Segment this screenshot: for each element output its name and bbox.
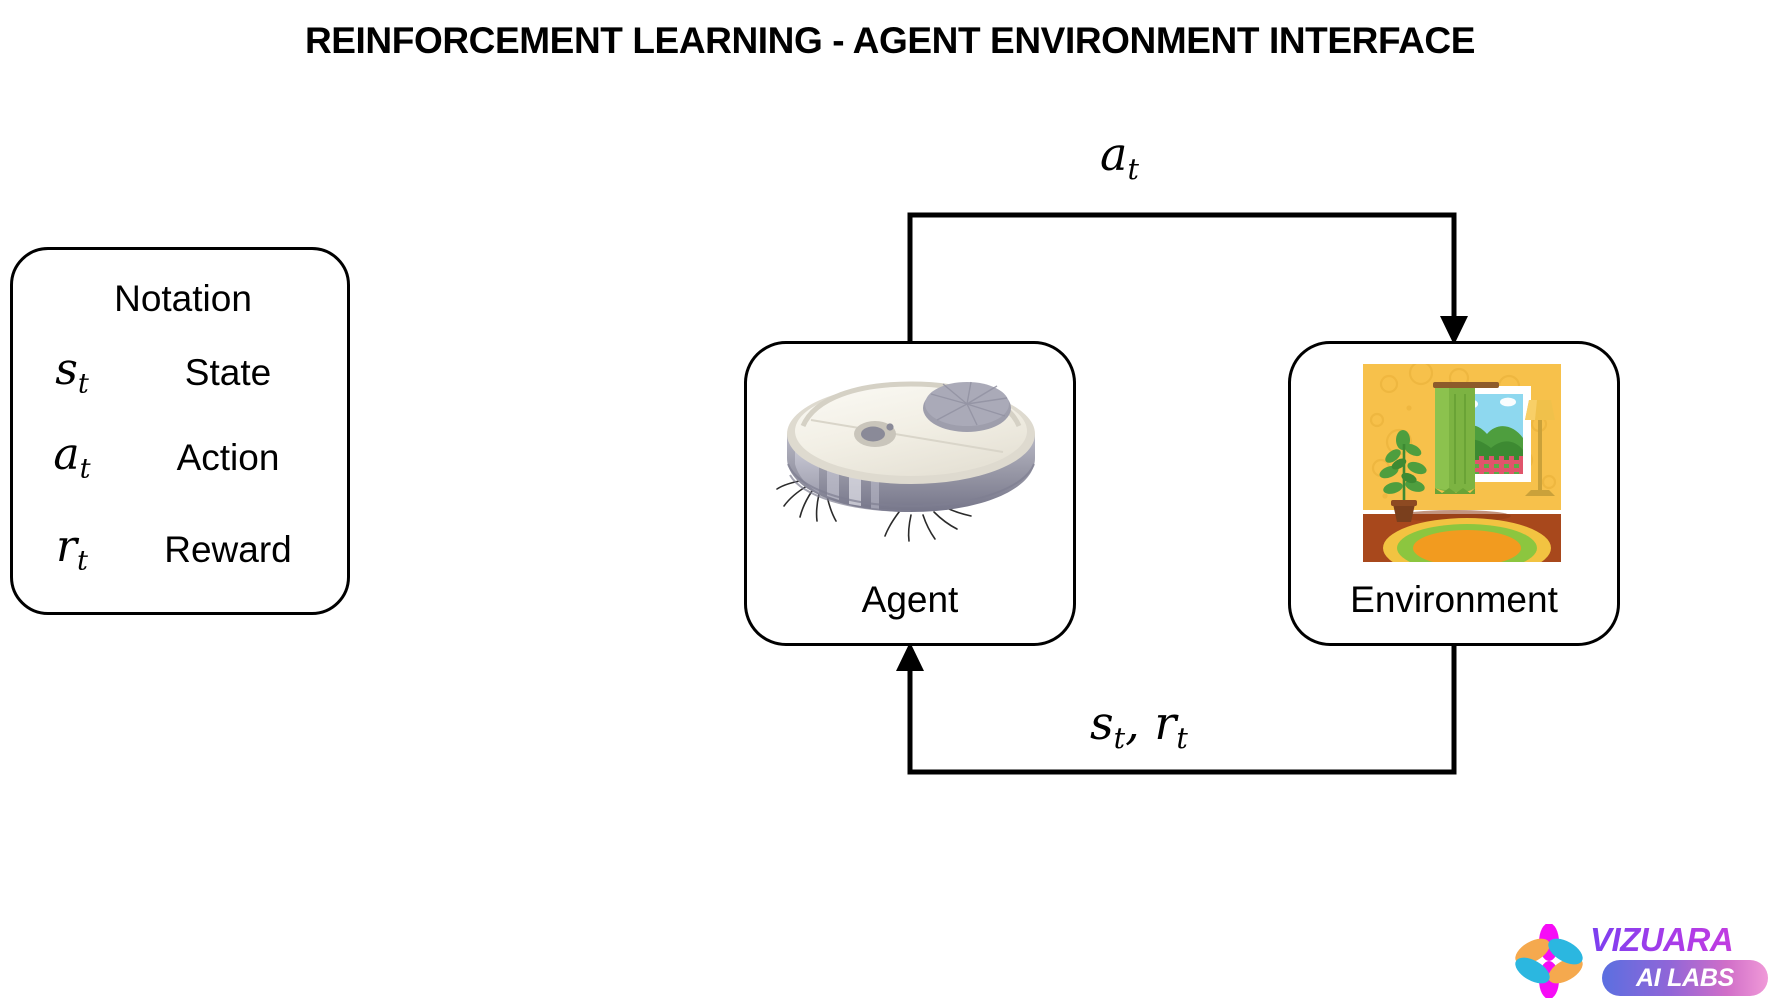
notation-symbol-reward: rt bbox=[13, 525, 131, 575]
lamp-pole bbox=[1538, 420, 1542, 492]
state-reward-arrowhead-icon bbox=[896, 642, 924, 671]
logo-text-vizuara: VIZUARA bbox=[1590, 921, 1733, 959]
living-room-icon bbox=[1363, 364, 1561, 562]
logo-text-ai-labs: AI LABS bbox=[1602, 960, 1768, 996]
logo-wordmark: VIZUARA AI LABS bbox=[1590, 920, 1768, 1000]
notation-label-reward: Reward bbox=[131, 529, 353, 571]
notation-row-reward: rt Reward bbox=[13, 520, 353, 580]
agent-node[interactable]: Agent bbox=[744, 341, 1076, 646]
notation-heading: Notation bbox=[13, 278, 353, 320]
curtain-highlight bbox=[1435, 388, 1449, 490]
vizuara-ai-labs-logo: VIZUARA AI LABS bbox=[1512, 920, 1768, 1000]
page-title: REINFORCEMENT LEARNING - AGENT ENVIRONME… bbox=[0, 20, 1780, 62]
environment-node-label: Environment bbox=[1291, 579, 1617, 621]
vacuum-sensor-icon bbox=[861, 427, 885, 442]
notation-panel: Notation st State at Action rt Reward bbox=[10, 247, 350, 615]
action-edge-label: at bbox=[1100, 131, 1139, 185]
curtain-rod bbox=[1433, 382, 1499, 388]
robot-vacuum-icon bbox=[771, 372, 1055, 542]
flower-logo-icon bbox=[1512, 924, 1586, 998]
plant-pot-rim bbox=[1391, 500, 1417, 506]
notation-row-state: st State bbox=[13, 343, 353, 403]
logo-pill: AI LABS bbox=[1602, 960, 1768, 996]
notation-label-state: State bbox=[131, 352, 353, 394]
notation-row-action: at Action bbox=[13, 428, 353, 488]
notation-symbol-action: at bbox=[13, 433, 131, 483]
notation-label-action: Action bbox=[131, 437, 353, 479]
vacuum-sensor-dot-icon bbox=[886, 423, 893, 430]
action-edge-path bbox=[910, 215, 1468, 345]
environment-node[interactable]: Environment bbox=[1288, 341, 1620, 646]
state-reward-edge-label: st, rt bbox=[1090, 700, 1188, 754]
notation-symbol-state: st bbox=[13, 348, 131, 398]
agent-node-label: Agent bbox=[747, 579, 1073, 621]
